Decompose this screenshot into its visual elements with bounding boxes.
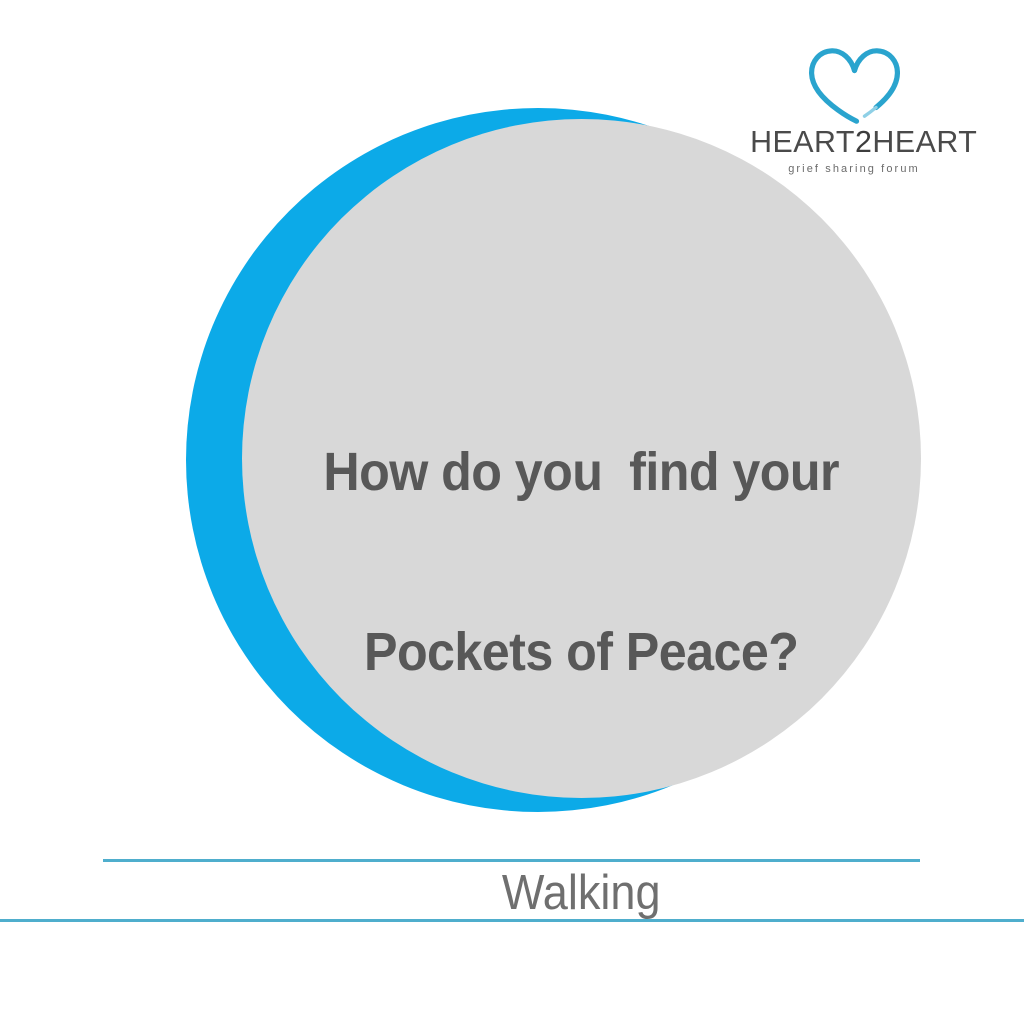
poster-canvas: How do you find your Pockets of Peace? W…	[0, 0, 1024, 1024]
short-divider	[103, 859, 920, 862]
gray-content-circle	[242, 119, 921, 798]
logo-number-two: 2	[855, 124, 872, 159]
heart-outline-icon	[808, 46, 900, 124]
brand-logo: HEART2HEART grief sharing forum	[748, 46, 960, 186]
logo-tagline: grief sharing forum	[748, 163, 960, 175]
logo-wordmark: HEART2HEART	[750, 125, 958, 159]
logo-word-left: HEART	[750, 124, 855, 159]
full-width-divider	[0, 919, 1024, 922]
logo-word-right: HEART	[872, 124, 977, 159]
